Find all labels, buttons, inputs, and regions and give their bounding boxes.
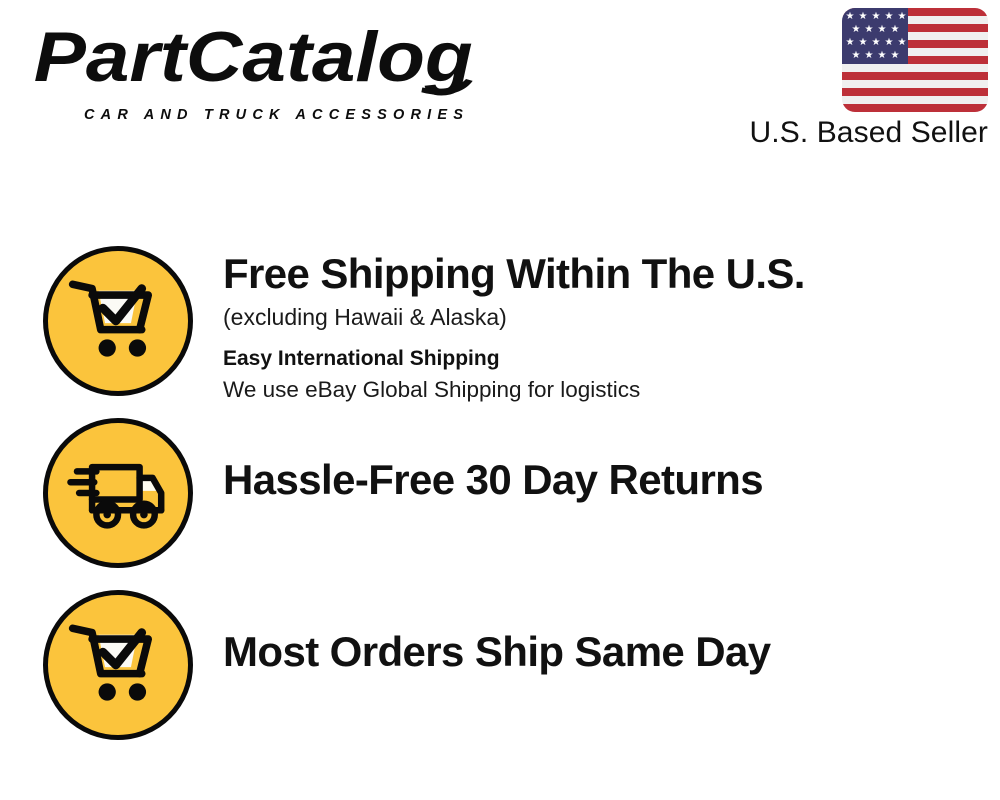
- brand-logo: PartCatalog CAR AND TRUCK ACCESSORIES: [22, 22, 492, 122]
- feature-text-block: Hassle-Free 30 Day Returns: [223, 458, 983, 503]
- feature-headline: Free Shipping Within The U.S.: [223, 252, 983, 297]
- feature-subline: (excluding Hawaii & Alaska): [223, 303, 983, 332]
- shopping-cart-check-icon: [43, 590, 193, 740]
- brand-wordmark-icon: PartCatalog: [22, 22, 492, 98]
- feature-headline: Most Orders Ship Same Day: [223, 630, 983, 675]
- feature-text-block: Free Shipping Within The U.S. (excluding…: [223, 252, 983, 404]
- delivery-truck-icon: [43, 418, 193, 568]
- feature-subhead-note: We use eBay Global Shipping for logistic…: [223, 375, 983, 404]
- feature-text-block: Most Orders Ship Same Day: [223, 630, 983, 675]
- banner-header: PartCatalog CAR AND TRUCK ACCESSORIES: [0, 0, 1000, 180]
- brand-wordmark-text: PartCatalog: [34, 22, 473, 96]
- feature-headline: Hassle-Free 30 Day Returns: [223, 458, 983, 503]
- shopping-cart-check-icon: [43, 246, 193, 396]
- brand-tagline: CAR AND TRUCK ACCESSORIES: [84, 108, 469, 123]
- us-based-seller-badge: ★ ★ ★ ★ ★ ★ ★ ★ ★ ★ ★ ★ ★ ★ ★ ★ ★ ★ U.S.…: [708, 8, 988, 149]
- us-flag-icon: ★ ★ ★ ★ ★ ★ ★ ★ ★ ★ ★ ★ ★ ★ ★ ★ ★ ★: [842, 8, 988, 112]
- promo-banner: PartCatalog CAR AND TRUCK ACCESSORIES: [0, 0, 1000, 800]
- seller-badge-label: U.S. Based Seller: [708, 116, 988, 149]
- feature-subhead: Easy International Shipping: [223, 345, 983, 372]
